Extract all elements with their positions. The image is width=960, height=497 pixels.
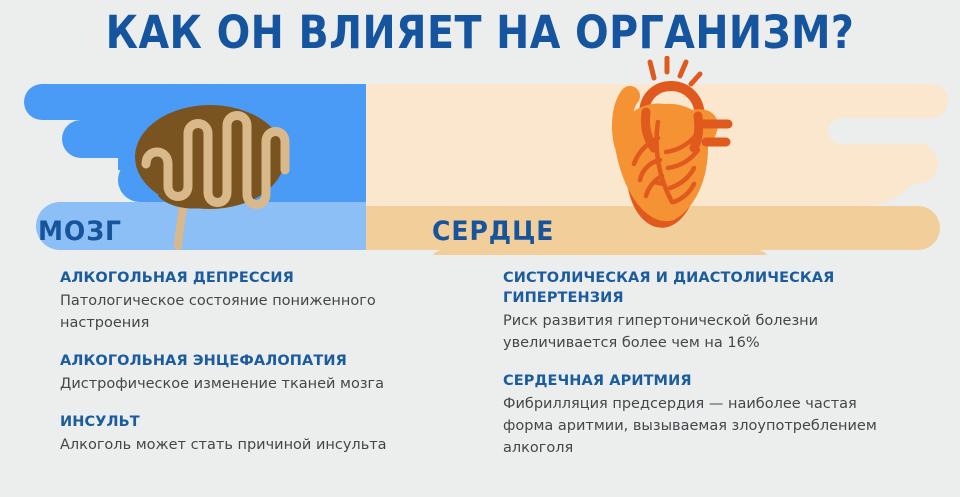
- heart-icon: [596, 56, 746, 251]
- organ-label-heart: СЕРДЦЕ: [432, 216, 554, 247]
- fact-item: АЛКОГОЛЬНАЯ ДЕПРЕССИЯ Патологическое сос…: [60, 268, 460, 334]
- fact-title: АЛКОГОЛЬНАЯ ДЕПРЕССИЯ: [60, 268, 460, 288]
- organ-label-brain: МОЗГ: [38, 216, 122, 247]
- brain-icon: [128, 100, 298, 250]
- infographic-canvas: КАК ОН ВЛИЯЕТ НА ОРГАНИЗМ?: [0, 0, 960, 497]
- fact-title: ИНСУЛЬТ: [60, 412, 460, 432]
- fact-body: Алкоголь может стать причиной инсульта: [60, 434, 460, 456]
- brain-fact-list: АЛКОГОЛЬНАЯ ДЕПРЕССИЯ Патологическое сос…: [60, 268, 460, 456]
- fact-item: ИНСУЛЬТ Алкоголь может стать причиной ин…: [60, 412, 460, 456]
- fact-body: Риск развития гипертонической болезни ув…: [503, 310, 903, 354]
- fact-body: Фибрилляция предсердия — наиболее частая…: [503, 393, 903, 459]
- heart-fact-list: СИСТОЛИЧЕСКАЯ И ДИАСТОЛИЧЕСКАЯ ГИПЕРТЕНЗ…: [503, 268, 903, 459]
- fact-body: Патологическое состояние пониженного нас…: [60, 290, 460, 334]
- fact-item: АЛКОГОЛЬНАЯ ЭНЦЕФАЛОПАТИЯ Дистрофическое…: [60, 351, 460, 395]
- fact-title: АЛКОГОЛЬНАЯ ЭНЦЕФАЛОПАТИЯ: [60, 351, 460, 371]
- fact-title: СЕРДЕЧНАЯ АРИТМИЯ: [503, 371, 903, 391]
- fact-body: Дистрофическое изменение тканей мозга: [60, 373, 460, 395]
- fact-item: СИСТОЛИЧЕСКАЯ И ДИАСТОЛИЧЕСКАЯ ГИПЕРТЕНЗ…: [503, 268, 903, 354]
- page-title: КАК ОН ВЛИЯЕТ НА ОРГАНИЗМ?: [58, 6, 903, 60]
- fact-item: СЕРДЕЧНАЯ АРИТМИЯ Фибрилляция предсердия…: [503, 371, 903, 459]
- fact-title: СИСТОЛИЧЕСКАЯ И ДИАСТОЛИЧЕСКАЯ ГИПЕРТЕНЗ…: [503, 268, 903, 308]
